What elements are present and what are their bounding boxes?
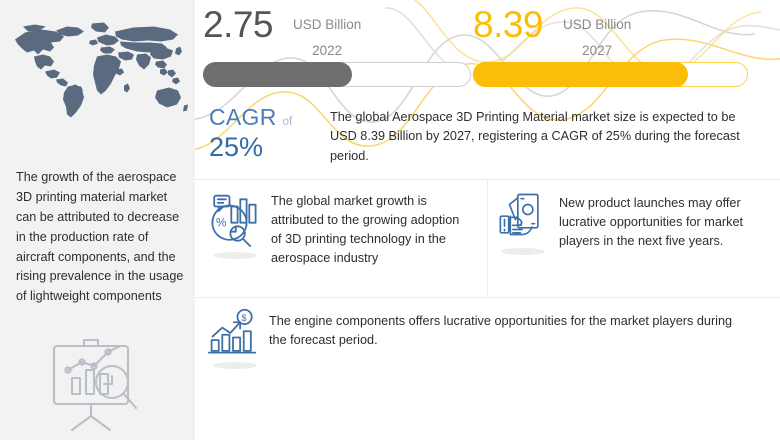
svg-text:%: % (216, 216, 226, 229)
world-map-icon (8, 18, 188, 126)
icon-shadow-1 (213, 252, 257, 259)
insight-card-2: New product launches may offer lucrative… (497, 190, 769, 251)
progress-fill-2027 (473, 62, 689, 87)
sidebar-summary-text: The growth of the aerospace 3D printing … (16, 168, 184, 307)
stat-2022: 2.75 USD Billion 2022 (203, 0, 471, 63)
main-panel: 2.75 USD Billion 2022 8.39 USD Billion 2 (195, 0, 780, 440)
growth-bar-chart-dollar-icon: $ (207, 308, 259, 363)
icon-shadow-2 (501, 248, 545, 255)
stat-unit-2027: USD Billion (563, 12, 631, 38)
progress-bar-2022 (203, 62, 471, 87)
cagr-of-label: of (283, 116, 293, 128)
insight-card-2-text: New product launches may offer lucrative… (559, 190, 751, 251)
progress-fill-2022 (203, 62, 352, 87)
icon-shadow-3 (213, 362, 257, 369)
stat-2027: 8.39 USD Billion 2027 (473, 0, 748, 63)
svg-text:$: $ (241, 313, 246, 323)
divider-middle (195, 297, 780, 298)
insight-card-1-text: The global market growth is attributed t… (271, 190, 461, 268)
divider-vertical (487, 180, 488, 297)
hero-description: The global Aerospace 3D Printing Materia… (330, 108, 762, 166)
stat-value-2027: 8.39 (473, 6, 543, 43)
stat-year-2022: 2022 (293, 38, 361, 64)
insight-card-1: % The global market growth is attributed… (207, 190, 479, 268)
cagr-block: CAGR of 25% (209, 104, 319, 163)
stat-value-2022: 2.75 (203, 6, 273, 43)
stat-unit-2022: USD Billion (293, 12, 361, 38)
insight-card-3: $ The engine components offers lucrative… (207, 308, 767, 363)
cagr-value: 25% (209, 132, 319, 163)
cagr-label: CAGR (209, 104, 277, 131)
infographic-root: The growth of the aerospace 3D printing … (0, 0, 780, 440)
stats-section: 2.75 USD Billion 2022 8.39 USD Billion 2 (195, 0, 780, 178)
sidebar: The growth of the aerospace 3D printing … (0, 0, 195, 440)
hand-holding-money-icon (497, 190, 547, 251)
insight-card-3-text: The engine components offers lucrative o… (269, 308, 739, 363)
presentation-chart-magnifier-icon (38, 332, 150, 432)
stat-year-2027: 2027 (563, 38, 631, 64)
progress-bar-2027 (473, 62, 748, 87)
